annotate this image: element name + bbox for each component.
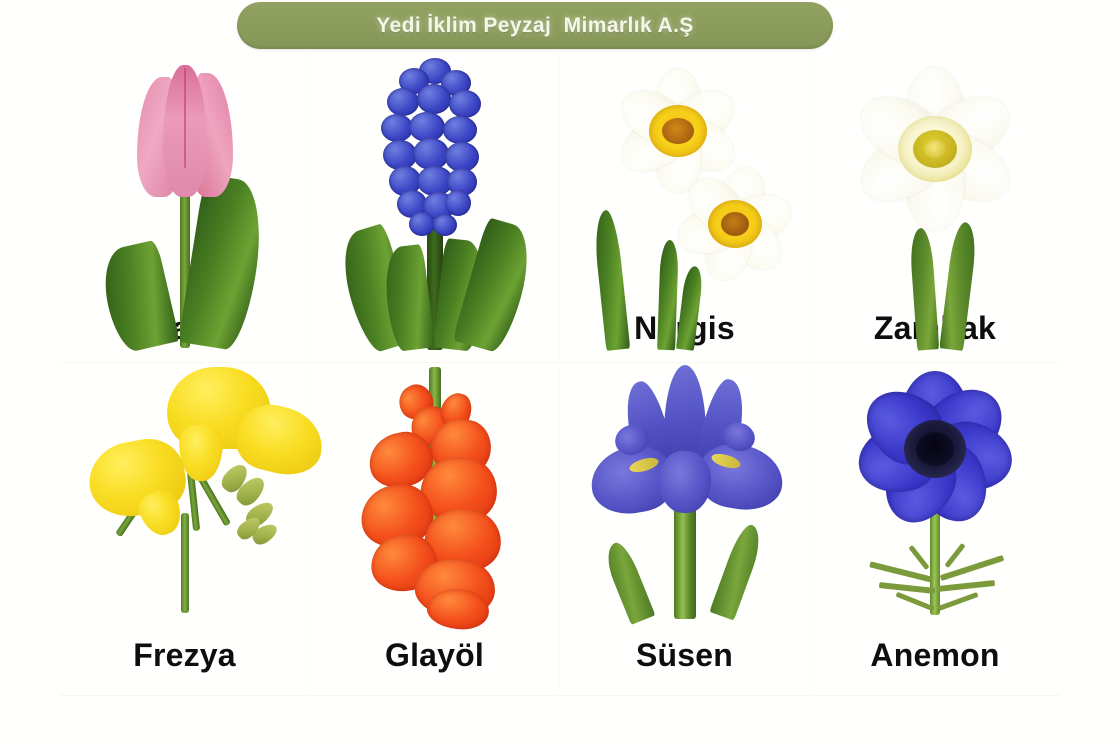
freesia-illustration [60, 363, 309, 639]
anemone-illustration [810, 363, 1060, 639]
flower-catalog-page: Yedi İklim Peyzaj Mimarlık A.Ş Lale [0, 0, 1120, 747]
flower-cell-lale[interactable]: Lale [60, 50, 310, 363]
narcissus-bloom-lower [665, 154, 805, 294]
flower-cell-frezya[interactable]: Frezya [60, 363, 310, 696]
hyacinth-bloom-cluster [379, 58, 491, 243]
flower-cell-glayol[interactable]: Glayöl [310, 363, 560, 696]
flower-label: Glayöl [385, 639, 484, 695]
gladiolus-illustration [310, 363, 559, 639]
tulip-bloom [137, 62, 233, 197]
narcissus-illustration [560, 50, 809, 312]
tulip-illustration [60, 50, 309, 312]
flower-cell-sumbul[interactable]: Sümbül [310, 50, 560, 363]
flower-label: Frezya [133, 639, 236, 695]
flower-cell-susen[interactable]: Süsen [560, 363, 810, 696]
hyacinth-illustration [310, 50, 559, 312]
flower-label: Süsen [636, 639, 733, 695]
company-name-label: Yedi İklim Peyzaj Mimarlık A.Ş [376, 14, 693, 38]
anemone-bloom [843, 369, 1027, 529]
flower-label: Anemon [870, 639, 999, 695]
white-narcissus-illustration [810, 50, 1060, 312]
flower-grid: Lale [60, 50, 1060, 696]
flower-cell-nergis[interactable]: Nergis [560, 50, 810, 363]
flower-cell-zambak[interactable]: Zambak [810, 50, 1060, 363]
company-banner: Yedi İklim Peyzaj Mimarlık A.Ş [237, 2, 833, 49]
iris-illustration [560, 363, 809, 639]
zambak-bloom [840, 54, 1030, 244]
flower-cell-anemon[interactable]: Anemon [810, 363, 1060, 696]
